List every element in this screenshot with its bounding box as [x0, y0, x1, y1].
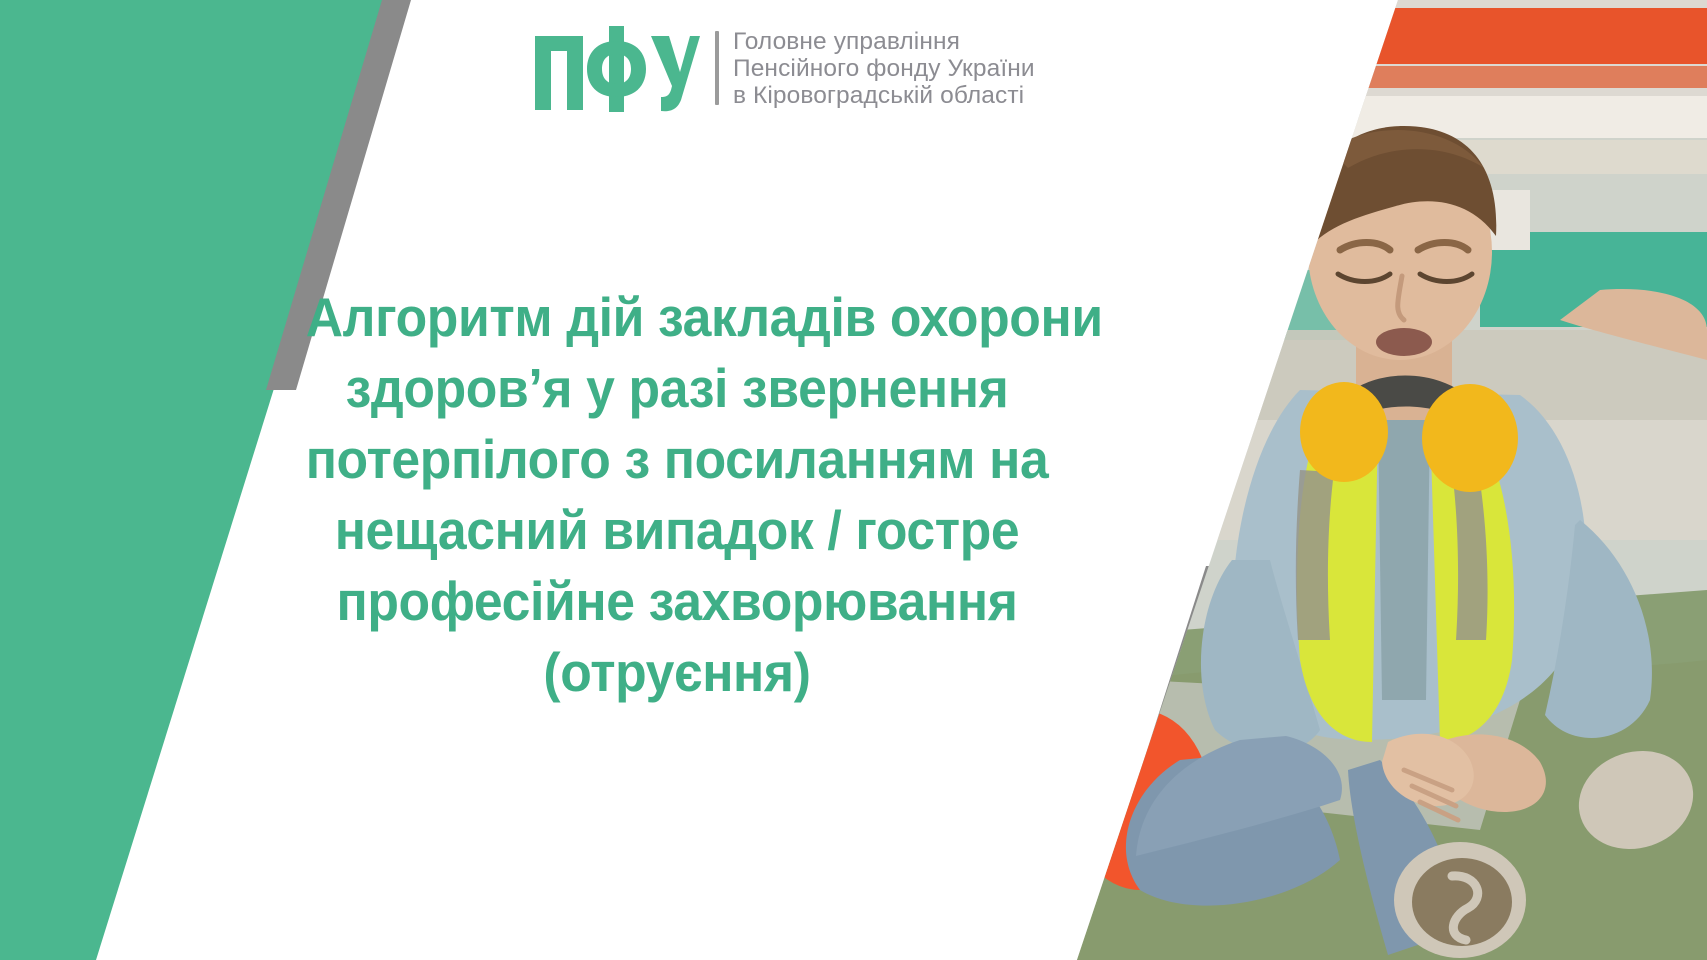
- logo-organisation-name: Головне управління Пенсійного фонду Укра…: [733, 28, 1035, 109]
- pfu-logo: Головне управління Пенсійного фонду Укра…: [533, 24, 1035, 112]
- title-line-4: нещасний випадок / гостре: [306, 495, 1049, 566]
- title-line-2: здоров’я у разі звернення: [306, 353, 1049, 424]
- logo-divider-icon: [715, 31, 719, 105]
- title-line-5: професійне захворювання: [306, 566, 1049, 637]
- logo-line-1: Головне управління: [733, 28, 1035, 55]
- pfu-logomark-icon: [533, 24, 701, 112]
- title-line-1: Алгоритм дій закладів охорони: [306, 282, 1049, 353]
- slide-canvas: Головне управління Пенсійного фонду Укра…: [0, 0, 1707, 960]
- logo-line-3: в Кіровоградській області: [733, 82, 1035, 109]
- slide-title: Алгоритм дій закладів охорони здоров’я у…: [306, 282, 1049, 708]
- logo-line-2: Пенсійного фонду України: [733, 55, 1035, 82]
- title-line-3: потерпілого з посиланням на: [306, 424, 1049, 495]
- title-line-6: (отруєння): [306, 637, 1049, 708]
